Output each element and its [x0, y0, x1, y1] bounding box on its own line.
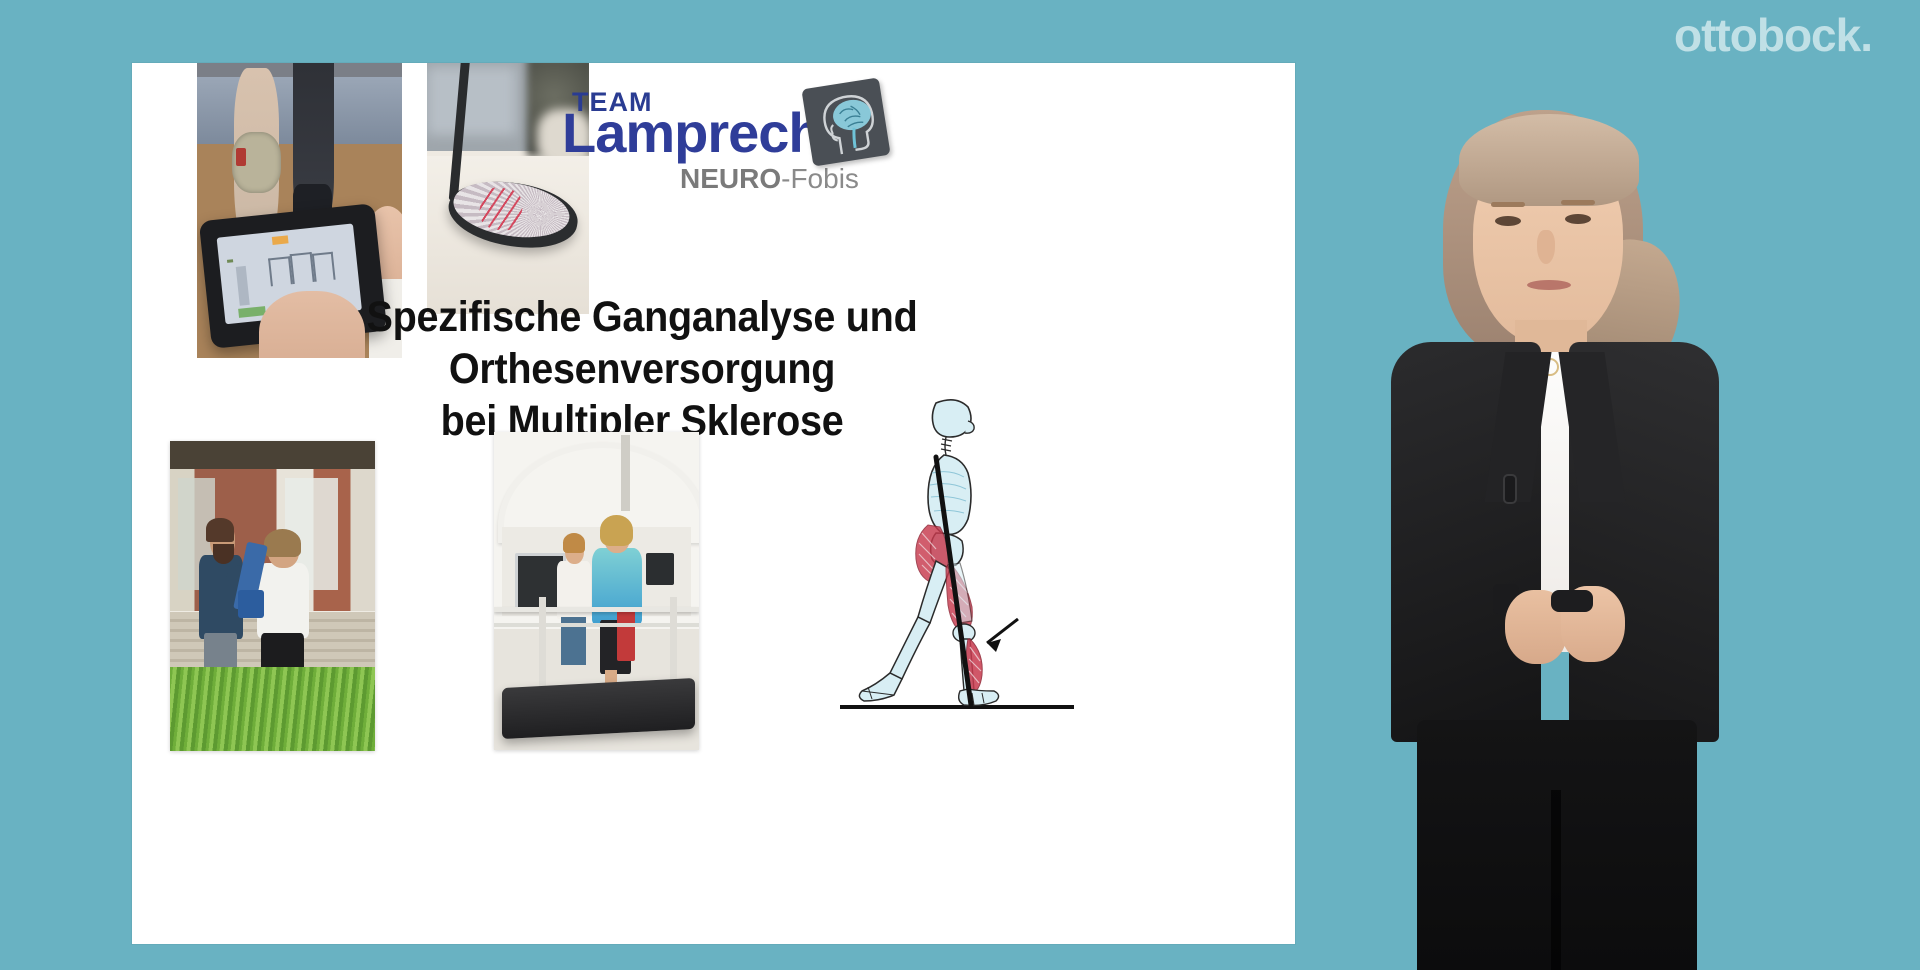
gait-skeleton-illustration — [832, 391, 1082, 721]
speaker-figure — [1355, 90, 1735, 960]
logo-fobis-word: -Fobis — [781, 163, 859, 194]
ottobock-logo: ottobock. — [1674, 8, 1872, 62]
slide-title-line-2: Orthesenversorgung — [274, 343, 1010, 395]
slide-title-line-1: Spezifische Ganganalyse und — [274, 291, 1010, 343]
presentation-clicker — [1551, 590, 1593, 612]
team-lamprecht-logo: TEAM Lamprecht NEURO-Fobis — [562, 81, 862, 191]
brain-head-profile-icon — [801, 77, 890, 166]
presentation-slide: TEAM Lamprecht NEURO-Fobis Spezifische G… — [132, 63, 1295, 944]
treadmill-gait-lab-photo — [494, 432, 699, 750]
outdoor-gait-training-photo — [170, 441, 375, 751]
logo-lamprecht-text: Lamprecht — [562, 105, 839, 161]
video-frame: ottobock. — [0, 0, 1920, 960]
lapel-microphone — [1505, 476, 1515, 502]
logo-neuro-text: NEURO-Fobis — [680, 163, 859, 195]
logo-neuro-word: NEURO — [680, 163, 781, 194]
